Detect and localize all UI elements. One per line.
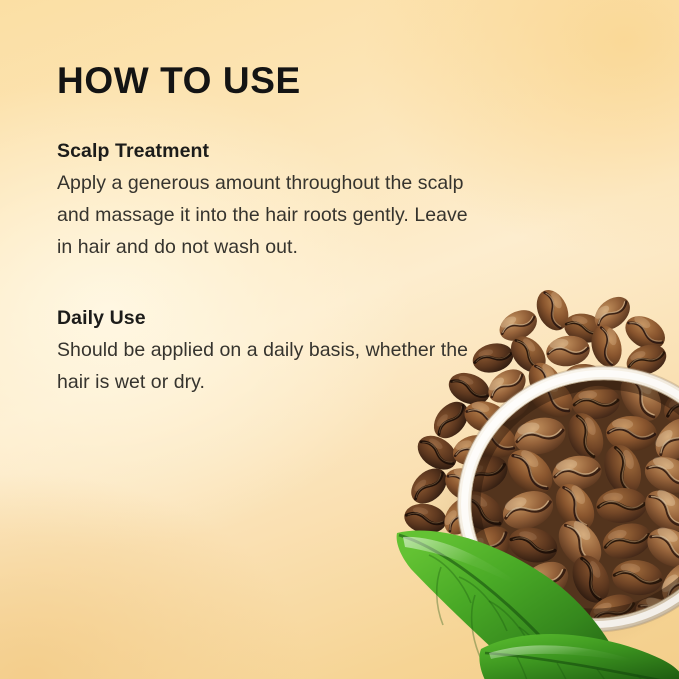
- section-heading-daily-use: Daily Use: [57, 306, 487, 330]
- section-body-scalp-treatment: Apply a generous amount throughout the s…: [57, 168, 487, 263]
- page-title: HOW TO USE: [57, 62, 487, 101]
- section-scalp-treatment: Scalp Treatment Apply a generous amount …: [57, 139, 487, 264]
- text-column: HOW TO USE Scalp Treatment Apply a gener…: [57, 62, 487, 399]
- how-to-use-card: HOW TO USE Scalp Treatment Apply a gener…: [0, 0, 679, 679]
- leaf-lower: [479, 634, 679, 679]
- section-body-daily-use: Should be applied on a daily basis, whet…: [57, 335, 487, 399]
- section-heading-scalp-treatment: Scalp Treatment: [57, 139, 487, 163]
- section-daily-use: Daily Use Should be applied on a daily b…: [57, 306, 487, 399]
